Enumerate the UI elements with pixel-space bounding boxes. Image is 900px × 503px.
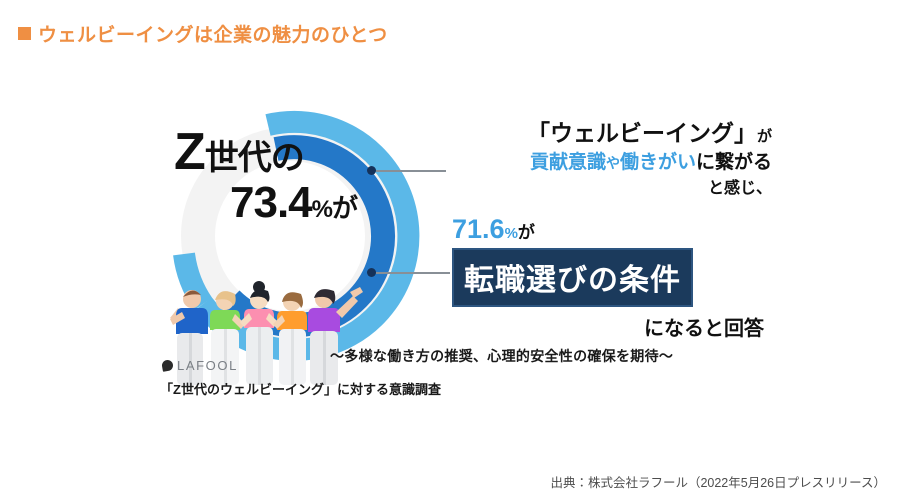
headline-z: Z [174, 123, 205, 181]
people-illustration [158, 274, 368, 392]
callout-jobchange-percent: 71.6%が [452, 216, 772, 243]
callout-jobchange-tail: になると回答 [452, 312, 764, 341]
callout-term-contribution: 貢献意識 [530, 152, 606, 173]
person-purple [308, 287, 363, 385]
callout-wellbeing: 「ウェルビーイング」が 貢献意識や働きがいに繋がる と感じ、 [452, 118, 772, 200]
callout-jobchange-suffix: が [518, 223, 535, 242]
droplet-mark-icon [161, 359, 174, 372]
headline-percent-unit: % [312, 196, 332, 223]
page-title-text: ウェルビーイングは企業の魅力のひとつ [38, 20, 388, 47]
headline-percent-suffix: が [332, 193, 357, 223]
survey-title: 「Z世代のウェルビーイング」に対する意識調査 [160, 379, 441, 398]
page-title: ウェルビーイングは企業の魅力のひとつ [18, 20, 388, 47]
callout-wellbeing-tail: に繋がる [696, 152, 772, 173]
leader-line-top [376, 170, 446, 172]
tagline: 〜多様な働き方の推奨、心理的安全性の確保を期待〜 [330, 346, 673, 366]
callout-jobchange-boxed: 転職選びの条件 [452, 248, 693, 307]
infographic-canvas: Z世代の 73.4%が 「ウェルビーイング」が 貢献意識や働きがいに繋がる と感… [140, 96, 780, 416]
callout-wellbeing-row1: 「ウェルビーイング」が [452, 118, 772, 148]
callout-jobchange: 71.6%が 転職選びの条件 になると回答 [452, 216, 772, 341]
leader-line-bottom [376, 272, 450, 274]
leader-dot-bottom [367, 268, 376, 277]
callout-wellbeing-main: 「ウェルビーイング」 [527, 120, 757, 146]
person-orange [273, 292, 307, 385]
callout-jobchange-value: 71.6 [452, 214, 505, 244]
callout-jobchange-unit: % [505, 225, 518, 242]
brand-wordmark: LAFOOL [177, 358, 238, 373]
leader-dot-top [367, 166, 376, 175]
callout-term-worthwhile: 働きがい [620, 152, 696, 173]
source-note: 出典：株式会社ラフール（2022年5月26日プレスリリース） [550, 472, 886, 491]
headline-percent: 73.4%が [230, 181, 357, 225]
callout-particle-ya: や [606, 155, 620, 171]
headline-generation-rest: 世代の [205, 139, 304, 177]
callout-wellbeing-particle: が [757, 128, 772, 145]
callout-wellbeing-row3: と感じ、 [452, 178, 772, 199]
person-pink [240, 281, 278, 385]
brand-logo: LAFOOL [162, 358, 238, 373]
callout-wellbeing-row2: 貢献意識や働きがいに繋がる [452, 150, 772, 175]
square-bullet-icon [18, 27, 31, 40]
headline-percent-value: 73.4 [230, 178, 312, 227]
headline-generation: Z世代の [174, 126, 304, 178]
